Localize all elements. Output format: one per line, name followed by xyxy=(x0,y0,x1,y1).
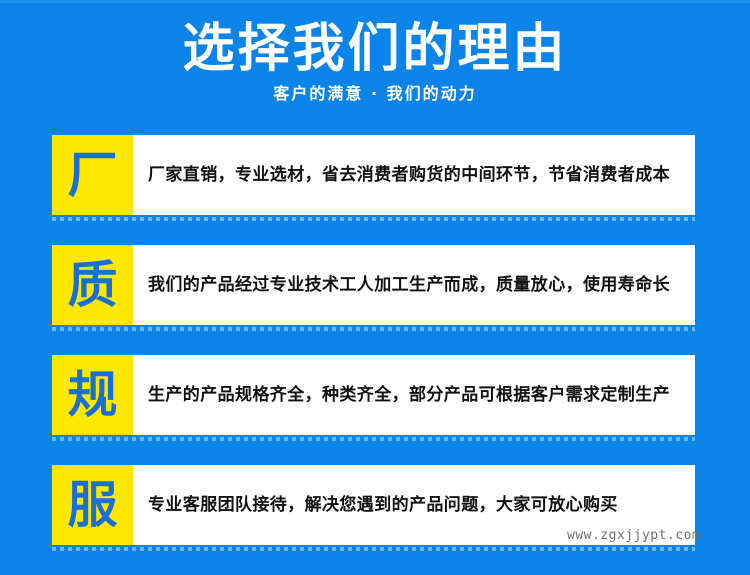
card-dotted-shadow xyxy=(52,327,695,331)
reason-card-item: 质 我们的产品经过专业技术工人加工生产而成，质量放心，使用寿命长 xyxy=(0,245,750,355)
reason-card: 厂 厂家直销，专业选材，省去消费者购货的中间环节，节省消费者成本 xyxy=(52,135,695,215)
reason-text: 生产的产品规格齐全，种类齐全，部分产品可根据客户需求定制生产 xyxy=(148,381,670,410)
reason-card-item: 服 专业客服团队接待，解决您遇到的产品问题，大家可放心购买 xyxy=(0,465,750,575)
reason-badge: 服 xyxy=(52,465,133,545)
page-title: 选择我们的理由 xyxy=(0,0,750,78)
reason-badge: 质 xyxy=(52,245,133,325)
page-header: 选择我们的理由 客户的满意 · 我们的动力 xyxy=(0,0,750,120)
page-subtitle: 客户的满意 · 我们的动力 xyxy=(0,78,750,104)
reason-card-body: 生产的产品规格齐全，种类齐全，部分产品可根据客户需求定制生产 xyxy=(133,355,695,435)
reason-badge: 厂 xyxy=(52,135,133,215)
reason-card-item: 规 生产的产品规格齐全，种类齐全，部分产品可根据客户需求定制生产 xyxy=(0,355,750,465)
reason-card: 质 我们的产品经过专业技术工人加工生产而成，质量放心，使用寿命长 xyxy=(52,245,695,325)
reason-text: 专业客服团队接待，解决您遇到的产品问题，大家可放心购买 xyxy=(148,491,618,520)
card-dotted-shadow xyxy=(52,217,695,221)
reason-card-list: 厂 厂家直销，专业选材，省去消费者购货的中间环节，节省消费者成本 质 我们的产品… xyxy=(0,135,750,575)
reason-badge: 规 xyxy=(52,355,133,435)
reason-text: 我们的产品经过专业技术工人加工生产而成，质量放心，使用寿命长 xyxy=(148,271,670,300)
card-dotted-shadow xyxy=(52,547,695,551)
reason-card-body: 厂家直销，专业选材，省去消费者购货的中间环节，节省消费者成本 xyxy=(133,135,695,215)
reason-card-item: 厂 厂家直销，专业选材，省去消费者购货的中间环节，节省消费者成本 xyxy=(0,135,750,245)
site-watermark: www.zgxjjypt.com xyxy=(567,528,700,544)
reason-text: 厂家直销，专业选材，省去消费者购货的中间环节，节省消费者成本 xyxy=(148,161,670,190)
reason-card: 规 生产的产品规格齐全，种类齐全，部分产品可根据客户需求定制生产 xyxy=(52,355,695,435)
card-dotted-shadow xyxy=(52,437,695,441)
reason-card-body: 我们的产品经过专业技术工人加工生产而成，质量放心，使用寿命长 xyxy=(133,245,695,325)
